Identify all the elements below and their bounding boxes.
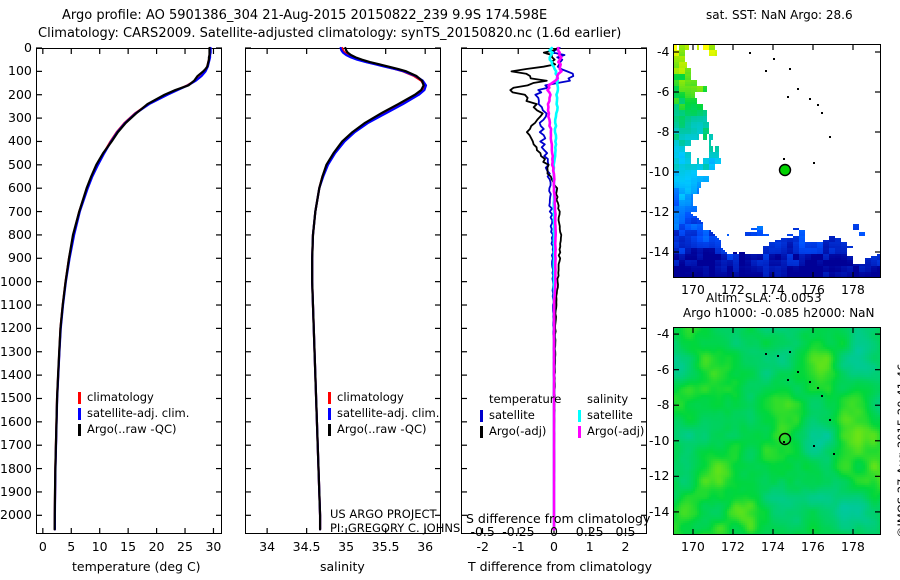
copyright-text: ©IMOS 27-Aug-2015 20:41:46 (895, 363, 900, 538)
sla-map-overlay (0, 0, 900, 580)
